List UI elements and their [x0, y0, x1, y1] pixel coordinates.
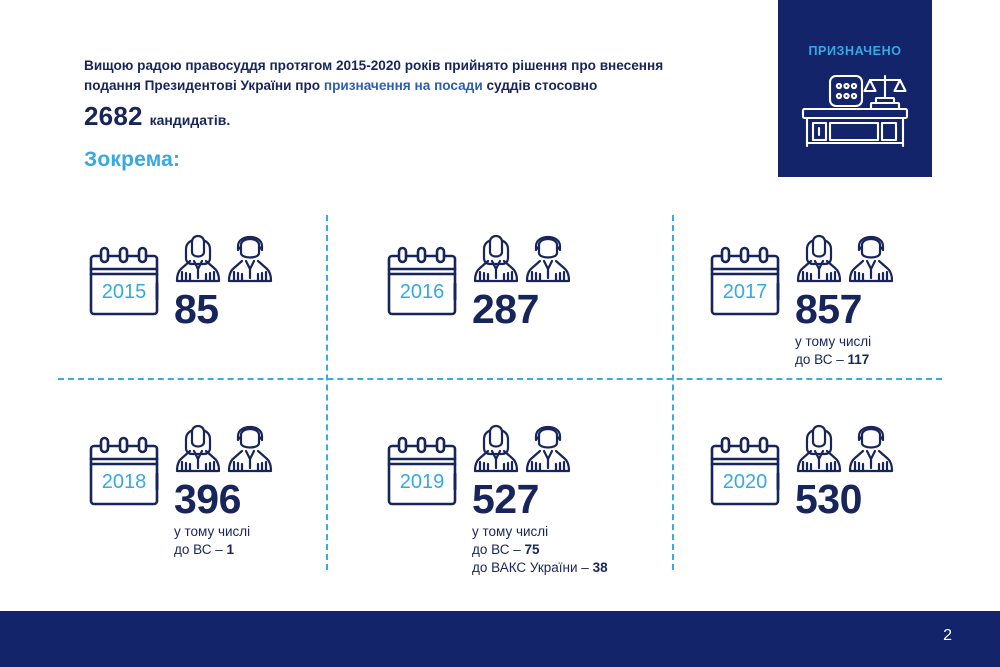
calendar-year-label: 2019 [400, 471, 445, 493]
calendar-icon: 2017 [705, 244, 787, 325]
two-judges-icon [472, 228, 572, 291]
year-values: 530 [795, 418, 895, 523]
two-judges-icon [174, 418, 274, 481]
subnote-label: до ВС – [174, 542, 226, 557]
year-cell-2015: 2015 [84, 228, 274, 333]
subnote-value: 38 [593, 560, 608, 575]
subnote-label: до ВС – [795, 352, 847, 367]
badge-title: ПРИЗНАЧЕНО [808, 44, 901, 58]
year-cell-2019: 2019 [382, 418, 608, 577]
total-number: 2682 [84, 101, 143, 132]
footer-bar: 2 [0, 611, 1000, 667]
year-values: 527 у тому числі до ВС – 75 до ВАКС Укра… [472, 418, 608, 577]
subnote-value: 75 [524, 542, 539, 557]
calendar-icon: 2019 [382, 434, 464, 515]
calendar-year-label: 2016 [400, 281, 445, 303]
subnote-row: до ВС – 1 [174, 541, 274, 559]
divider-vertical-right [672, 215, 674, 570]
calendar-icon: 2020 [705, 434, 787, 515]
judge-bench-scales-icon [800, 72, 910, 153]
two-judges-icon [795, 228, 895, 291]
intro-highlight: призначення на посади [324, 78, 483, 93]
subnote-row: до ВАКС України – 38 [472, 559, 608, 577]
year-subnotes: у тому числі до ВС – 117 [795, 333, 895, 369]
subnote-label: у тому числі [174, 524, 250, 539]
divider-horizontal [58, 378, 942, 380]
year-count: 527 [472, 479, 608, 519]
subnote-row: до ВС – 117 [795, 351, 895, 369]
year-cell-2020: 2020 [705, 418, 895, 523]
calendar-year-label: 2015 [102, 281, 147, 303]
subnote-label: у тому числі [472, 524, 548, 539]
section-heading: Зокрема: [84, 148, 180, 172]
subnote-row: у тому числі [174, 523, 274, 541]
page-number: 2 [943, 627, 952, 645]
intro-text-2a: подання Президентові України про [84, 78, 324, 93]
two-judges-icon [174, 228, 274, 291]
year-subnotes: у тому числі до ВС – 1 [174, 523, 274, 559]
intro-line-2: подання Президентові України про признач… [84, 76, 744, 96]
year-cell-2018: 2018 [84, 418, 274, 559]
calendar-icon: 2015 [84, 244, 166, 325]
subnote-row: у тому числі [795, 333, 895, 351]
subnote-value: 117 [847, 352, 869, 367]
year-values: 287 [472, 228, 572, 333]
year-count: 857 [795, 289, 895, 329]
intro-line-1: Вищою радою правосуддя протягом 2015-202… [84, 56, 744, 76]
year-count: 530 [795, 479, 895, 519]
subnote-row: у тому числі [472, 523, 608, 541]
year-cell-2017: 2017 [705, 228, 895, 369]
calendar-year-label: 2017 [723, 281, 768, 303]
two-judges-icon [795, 418, 895, 481]
intro-text-2b: суддів стосовно [483, 78, 598, 93]
year-values: 857 у тому числі до ВС – 117 [795, 228, 895, 369]
calendar-year-label: 2018 [102, 471, 147, 493]
year-count: 396 [174, 479, 274, 519]
year-cell-2016: 2016 [382, 228, 572, 333]
divider-vertical-left [326, 215, 328, 570]
subnote-label: до ВС – [472, 542, 524, 557]
total-label: кандидатів. [150, 112, 231, 128]
year-values: 396 у тому числі до ВС – 1 [174, 418, 274, 559]
year-grid: 2015 [0, 210, 1000, 570]
year-subnotes: у тому числі до ВС – 75 до ВАКС України … [472, 523, 608, 577]
intro-text-1: Вищою радою правосуддя протягом 2015-202… [84, 58, 663, 73]
calendar-icon: 2016 [382, 244, 464, 325]
subnote-value: 1 [226, 542, 234, 557]
total-candidates: 2682 кандидатів. [84, 101, 744, 132]
badge-panel: ПРИЗНАЧЕНО [778, 0, 932, 177]
calendar-icon: 2018 [84, 434, 166, 515]
two-judges-icon [472, 418, 608, 481]
year-values: 85 [174, 228, 274, 333]
subnote-label: до ВАКС України – [472, 560, 593, 575]
subnote-row: до ВС – 75 [472, 541, 608, 559]
calendar-year-label: 2020 [723, 471, 768, 493]
intro-block: Вищою радою правосуддя протягом 2015-202… [84, 56, 744, 132]
year-count: 287 [472, 289, 572, 329]
subnote-label: у тому числі [795, 334, 871, 349]
year-count: 85 [174, 289, 274, 329]
